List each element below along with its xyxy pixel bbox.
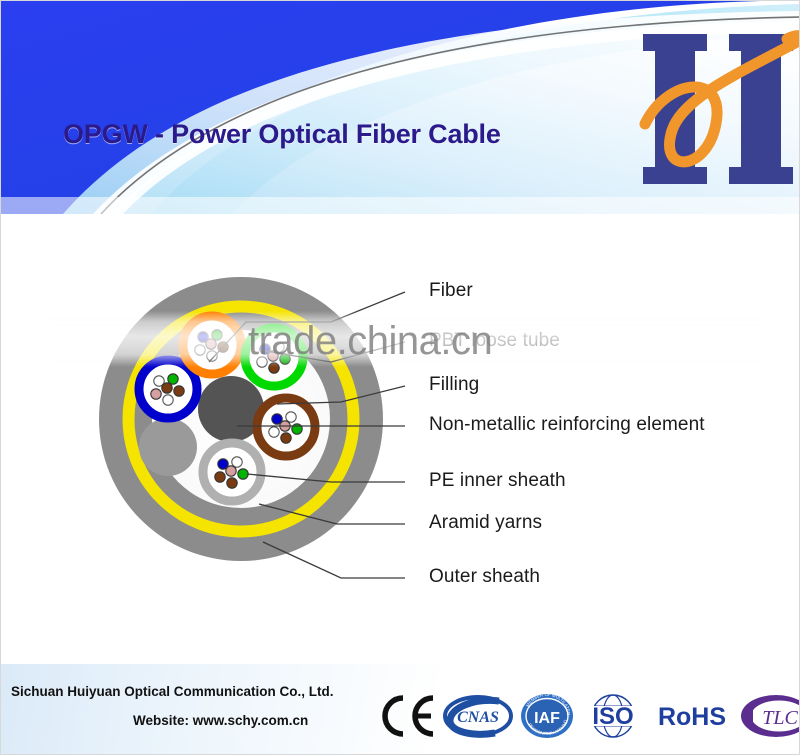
leader-filling [277,386,405,404]
label-fiber: Fiber [429,280,473,302]
svg-text:CNAS: CNAS [457,709,499,726]
label-filling: Filling [429,374,479,396]
company-website[interactable]: Website: www.schy.com.cn [133,713,381,728]
company-name: Sichuan Huiyuan Optical Communication Co… [11,684,381,699]
page-title: OPGW - Power Optical Fiber Cable [63,119,501,150]
cert-cnas-icon: CNAS [443,692,513,745]
label-pbt-loose-tube: PBT loose tube [429,330,560,352]
svg-text:RoHS: RoHS [658,703,726,731]
cert-iaf-icon: IAF MEMBER OF MULTILATERAL RECOGNITION A… [519,692,575,745]
certification-badges: CNAS IAF MEMBER OF MULTILATERAL RECOGNIT… [381,687,800,749]
svg-text:ISO: ISO [592,703,633,730]
label-non-metallic-reinforcing-element: Non-metallic reinforcing element [429,414,705,436]
cert-iso-icon: ISO [581,692,645,745]
cert-rohs-icon: RoHS [651,692,733,745]
logo-graphic [637,6,800,211]
cert-tlc-icon: TLC [739,692,800,745]
label-aramid-yarns: Aramid yarns [429,512,542,534]
leader-pbt-loose-tube [259,342,405,362]
huiyuan-h-logo [637,6,800,211]
cable-diagram: Fiber PBT loose tube Filling Non-metalli… [1,214,800,664]
cert-ce-icon [381,692,437,745]
leader-aramid [259,504,405,524]
company-info: Sichuan Huiyuan Optical Communication Co… [11,684,381,728]
leader-pe-inner [247,474,405,482]
header-banner: OPGW - Power Optical Fiber Cable [1,1,800,214]
leader-outer-sheath [263,542,405,578]
label-outer-sheath: Outer sheath [429,566,540,588]
svg-text:TLC: TLC [762,707,798,729]
label-pe-inner-sheath: PE inner sheath [429,470,566,492]
svg-text:IAF: IAF [534,710,560,727]
leader-fiber [209,292,405,362]
product-image-page: OPGW - Power Optical Fiber Cable [0,0,800,755]
leader-lines [1,214,800,664]
